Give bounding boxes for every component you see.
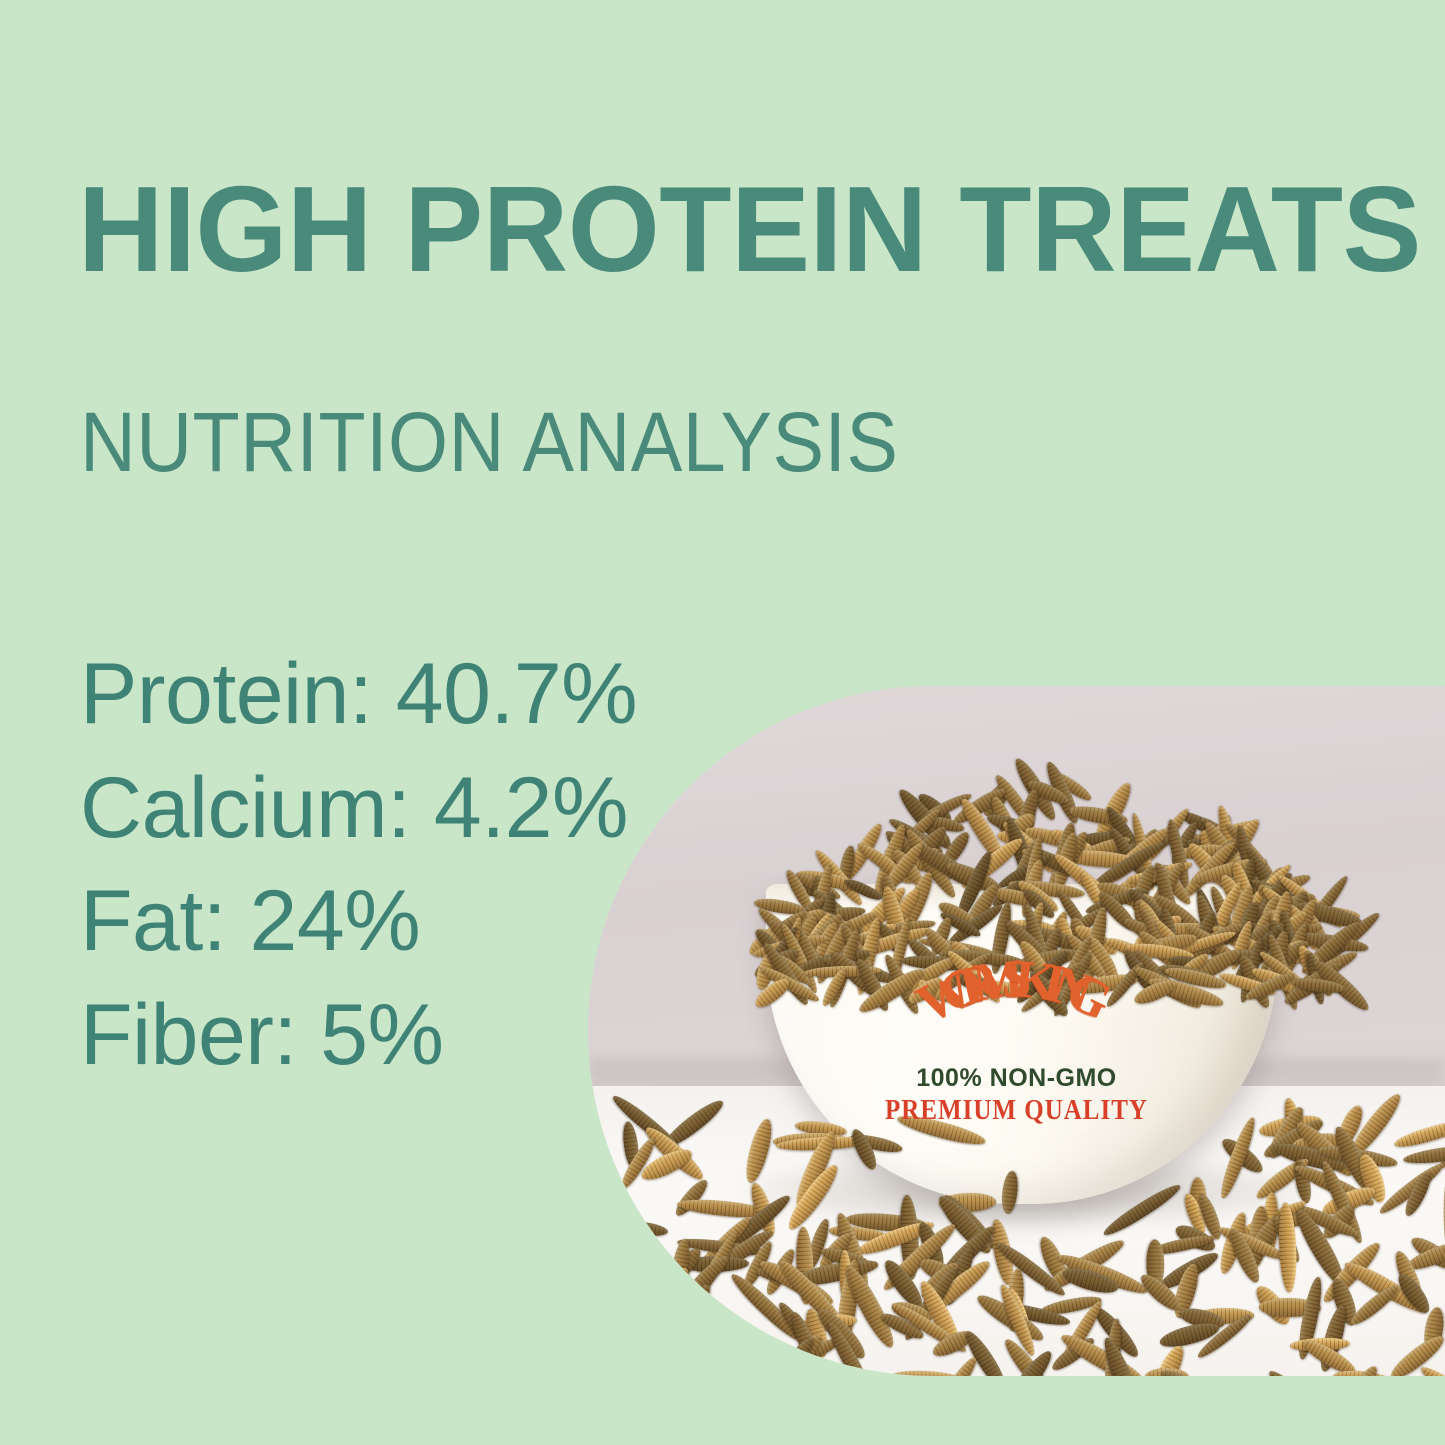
product-photo: WORMSKING 100% NON-GMO PREMIUM QUALITY xyxy=(588,686,1445,1376)
larvae-pile xyxy=(738,746,1308,996)
page-title: HIGH PROTEIN TREATS xyxy=(78,168,1421,290)
larvae-scatter xyxy=(588,1116,1445,1376)
infographic-canvas: HIGH PROTEIN TREATS NUTRITION ANALYSIS P… xyxy=(0,0,1445,1445)
page-subtitle: NUTRITION ANALYSIS xyxy=(80,400,898,484)
